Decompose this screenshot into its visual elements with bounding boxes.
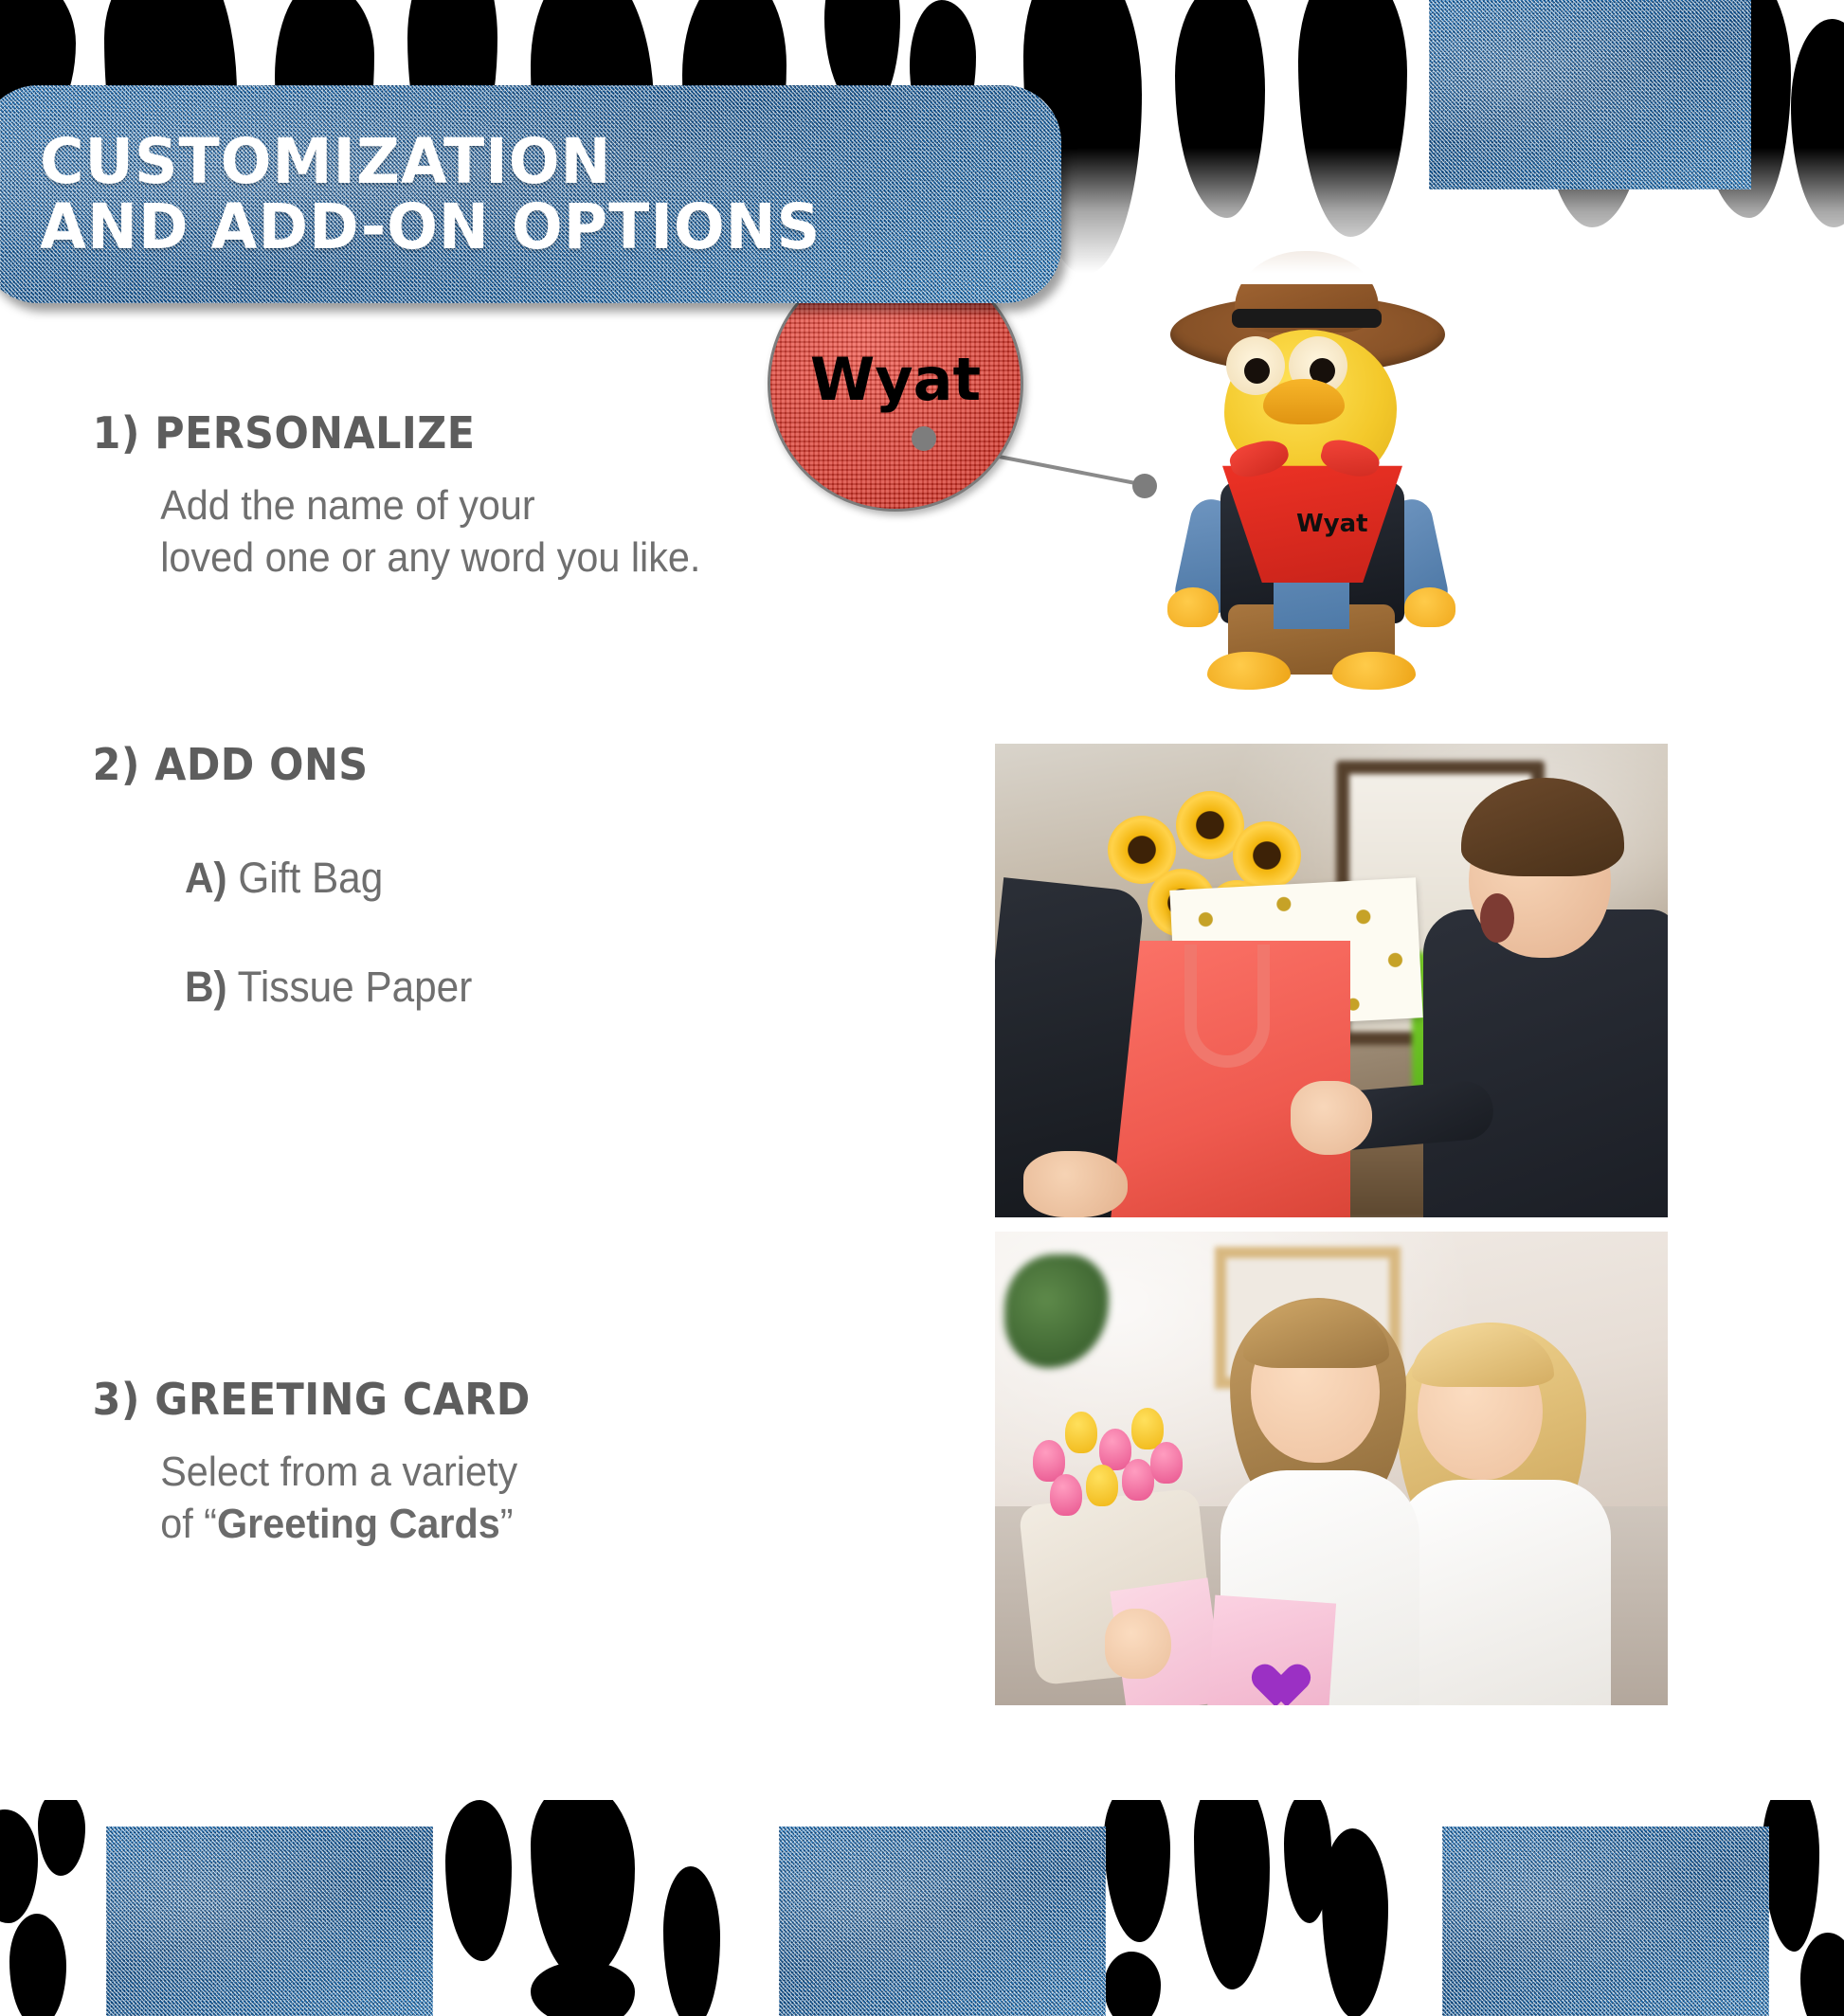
tulip-icon [1086,1465,1118,1506]
cow-spot [38,1800,85,1876]
boy-hand [1291,1081,1372,1155]
section-3-body-line-2: of “Greeting Cards” [160,1498,926,1550]
cow-spot [1194,1800,1270,1989]
cow-spot [9,1914,66,2016]
duck-foot-left [1207,652,1291,690]
cow-spot [1800,1933,1844,2016]
duck-hand-left [1167,587,1219,627]
cow-spot [1298,0,1407,237]
daughter-hand [1105,1609,1171,1679]
section-3-body-line-1: Select from a variety [160,1446,926,1498]
cow-spot [1763,1800,1819,1952]
callout-origin-dot [912,426,936,451]
duck-pupil-left [1244,358,1270,384]
adult-hand [1023,1151,1128,1217]
bandana-personalized-name: Wyat [1296,510,1368,538]
section-3-body: Select from a variety of “Greeting Cards… [0,1425,927,1551]
add-on-item-gift-bag[interactable]: A) Gift Bag [185,856,937,899]
tulip-icon [1050,1474,1082,1516]
cow-spot [1322,1828,1388,2016]
section-3-heading: 3) GREETING CARD [0,1374,916,1425]
cow-spot [1175,0,1265,218]
cow-spot [531,1961,635,2016]
add-on-label-tissue-paper: Tissue Paper [238,963,473,1011]
boy-open-mouth [1480,893,1514,943]
duck-plush-figure: Wyat [1109,246,1507,673]
cowboy-hat-band-icon [1232,309,1382,328]
bottom-cow-print-border [0,1800,1844,2016]
duck-foot-right [1332,652,1416,690]
magnifier-name-text: Wyat [810,345,981,414]
add-on-letter-a: A) [185,854,227,902]
greeting-card-suffix: ” [500,1501,514,1547]
product-photo-duck-plush: Wyat Wyat [758,246,1668,673]
cow-spot [531,1800,635,1980]
section-greeting-card: 3) GREETING CARD Select from a variety o… [0,1374,985,1551]
sunflower-icon [1233,821,1301,890]
gift-bag-handle [1184,945,1270,1068]
banner-title-line-2: AND ADD-ON OPTIONS [40,194,1021,260]
cow-spot [663,1866,720,2016]
add-on-letter-b: B) [185,963,227,1011]
cow-spot [445,1800,512,1961]
add-on-list: A) Gift Bag B) Tissue Paper [0,790,985,1008]
tulip-bouquet [1027,1391,1188,1514]
cow-spot [1104,1800,1170,1942]
greeting-card-emphasis: Greeting Cards [217,1501,500,1547]
tulip-icon [1065,1412,1097,1453]
denim-swatch-bottom-3 [1442,1827,1769,2016]
purple-heart-icon [1243,1647,1294,1694]
add-on-label-gift-bag: Gift Bag [238,854,383,902]
main-content: 1) PERSONALIZE Add the name of your love… [0,313,1844,1800]
add-on-item-tissue-paper[interactable]: B) Tissue Paper [185,965,937,1008]
photo-gift-bag [995,744,1668,1217]
mother-torso [1393,1480,1611,1705]
denim-swatch-bottom-2 [779,1827,1106,2016]
section-2-heading: 2) ADD ONS [0,739,916,790]
greeting-card-prefix: of “ [160,1501,217,1547]
denim-swatch-top-right [1429,0,1751,189]
photo-greeting-card [995,1232,1668,1705]
cow-spot [1791,19,1844,227]
duck-hand-right [1404,587,1455,627]
tulip-icon [1122,1459,1154,1501]
cow-spot [0,1809,38,1923]
tulip-icon [1150,1442,1183,1484]
header-banner: CUSTOMIZATION AND ADD-ON OPTIONS [0,85,1061,303]
denim-swatch-bottom-1 [106,1827,433,2016]
callout-anchor-dot [1132,474,1157,498]
cow-spot [1104,1952,1161,2016]
banner-title-line-1: CUSTOMIZATION [40,129,1021,194]
section-add-ons: 2) ADD ONS A) Gift Bag B) Tissue Paper [0,739,985,1074]
